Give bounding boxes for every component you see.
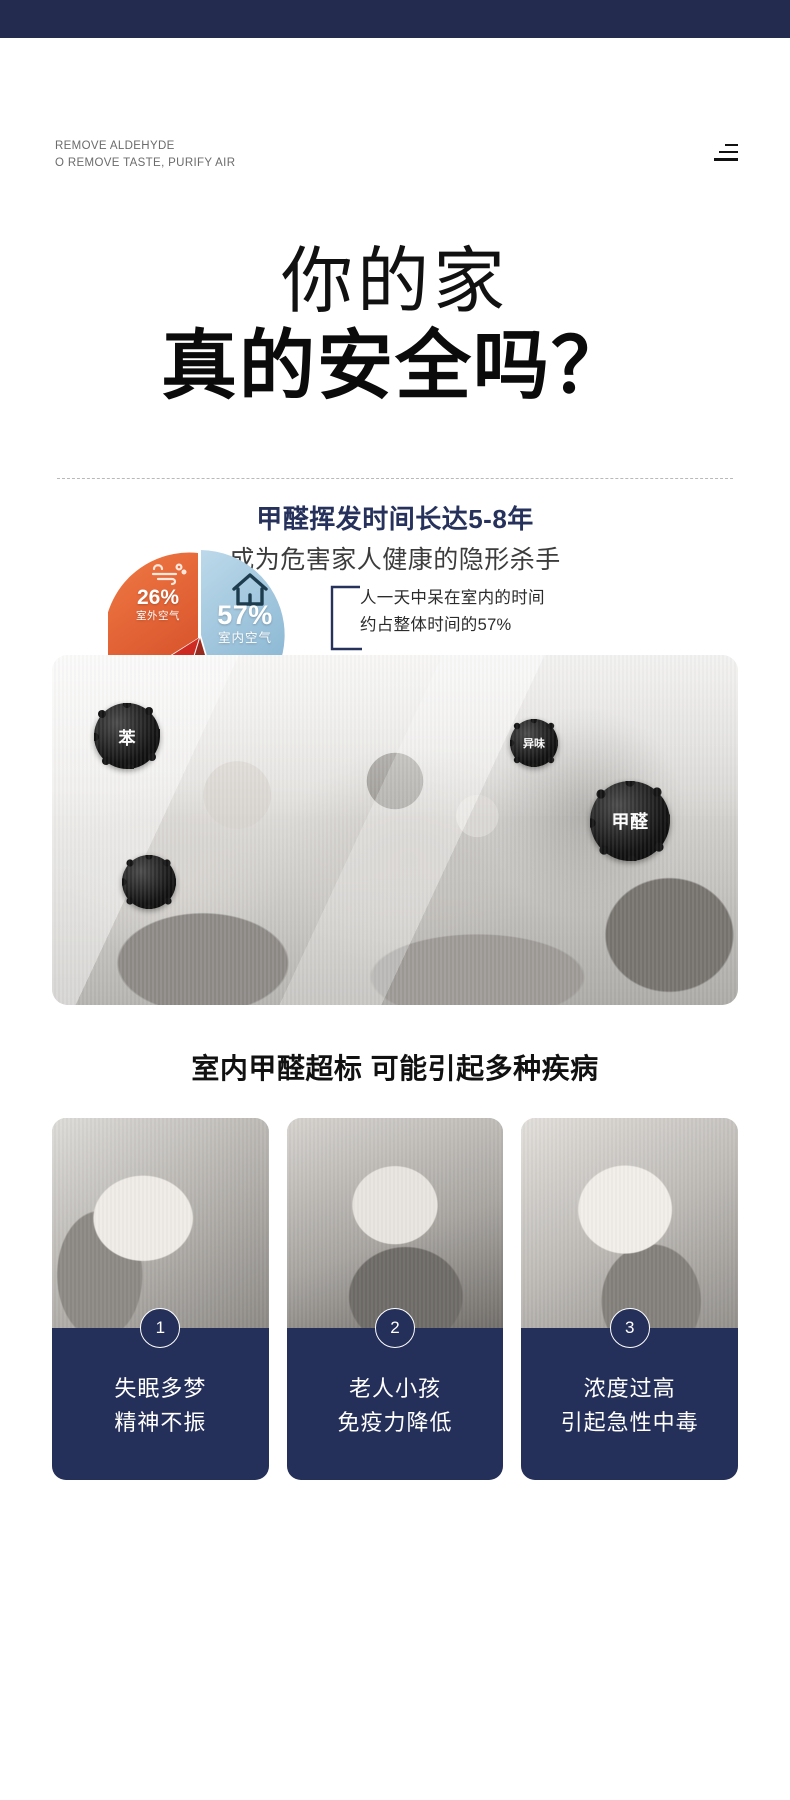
menu-line-2	[719, 151, 738, 153]
hero-title-line2: 真的安全吗？	[0, 324, 790, 410]
disease-card-3-line1: 浓度过高	[521, 1372, 738, 1406]
disease-card-3-number: 3	[610, 1308, 650, 1348]
virus-spikes	[590, 781, 670, 861]
family-on-sofa-photo: 苯 异味 甲醛	[52, 655, 738, 1005]
woman-headache-photo	[52, 1118, 269, 1336]
disease-card-2[interactable]: 2 老人小孩 免疫力降低	[287, 1118, 504, 1480]
odor-virus-badge: 异味	[510, 719, 558, 767]
disease-card-3-line2: 引起急性中毒	[521, 1406, 738, 1440]
chart-annotation-line2: 约占整体时间的57%	[360, 612, 622, 639]
disease-card-3-text: 浓度过高 引起急性中毒	[521, 1372, 738, 1440]
wind-icon	[150, 560, 188, 586]
odor-label: 异味	[510, 719, 558, 767]
disease-cards: 1 失眠多梦 精神不振 2 老人小孩 免疫力降低 3 浓度过高 引起急性中毒	[52, 1118, 738, 1480]
hero-title-line1: 你的家	[0, 240, 790, 324]
virus-spikes	[94, 703, 160, 769]
menu-line-1	[725, 144, 738, 146]
hamburger-menu-icon[interactable]	[714, 144, 738, 166]
formaldehyde-virus-badge: 甲醛	[590, 781, 670, 861]
disease-card-1-text: 失眠多梦 精神不振	[52, 1372, 269, 1440]
disease-card-2-footer: 2 老人小孩 免疫力降低	[287, 1328, 504, 1480]
man-coughing-photo	[287, 1118, 504, 1336]
disease-card-1[interactable]: 1 失眠多梦 精神不振	[52, 1118, 269, 1480]
benzene-virus-badge: 苯	[94, 703, 160, 769]
hero-title: 你的家 真的安全吗？	[0, 240, 790, 410]
page-header: REMOVE ALDEHYDE O REMOVE TASTE, PURIFY A…	[0, 138, 790, 198]
home-icon	[228, 570, 272, 610]
disease-card-1-line2: 精神不振	[52, 1406, 269, 1440]
virus-spikes	[510, 719, 558, 767]
disease-card-1-footer: 1 失眠多梦 精神不振	[52, 1328, 269, 1480]
brand-tagline: REMOVE ALDEHYDE O REMOVE TASTE, PURIFY A…	[55, 138, 235, 172]
brand-tagline-line1: REMOVE ALDEHYDE	[55, 138, 235, 155]
disease-card-2-number: 2	[375, 1308, 415, 1348]
top-navy-bar	[0, 0, 790, 38]
subtitle-line1: 甲醛挥发时间长达5-8年	[0, 498, 790, 540]
brand-tagline-line2: O REMOVE TASTE, PURIFY AIR	[55, 155, 235, 172]
pollutant-virus-badge-small	[122, 855, 176, 909]
chart-annotation-line1: 人一天中呆在室内的时间	[360, 585, 622, 612]
woman-throat-pain-photo	[521, 1118, 738, 1336]
section-heading: 室内甲醛超标 可能引起多种疾病	[0, 1050, 790, 1088]
photo-sheen	[52, 655, 738, 816]
disease-card-3-footer: 3 浓度过高 引起急性中毒	[521, 1328, 738, 1480]
disease-card-2-line2: 免疫力降低	[287, 1406, 504, 1440]
virus-spikes	[122, 855, 176, 909]
callout-bracket-line	[322, 585, 362, 651]
formaldehyde-label: 甲醛	[590, 781, 670, 861]
benzene-label: 苯	[94, 703, 160, 769]
dotted-divider	[57, 478, 733, 479]
menu-line-3	[714, 158, 738, 160]
disease-card-1-line1: 失眠多梦	[52, 1372, 269, 1406]
disease-card-1-number: 1	[140, 1308, 180, 1348]
chart-annotation: 人一天中呆在室内的时间 约占整体时间的57%	[322, 585, 622, 653]
chart-annotation-text: 人一天中呆在室内的时间 约占整体时间的57%	[360, 585, 622, 639]
disease-card-2-text: 老人小孩 免疫力降低	[287, 1372, 504, 1440]
disease-card-3[interactable]: 3 浓度过高 引起急性中毒	[521, 1118, 738, 1480]
disease-card-2-line1: 老人小孩	[287, 1372, 504, 1406]
